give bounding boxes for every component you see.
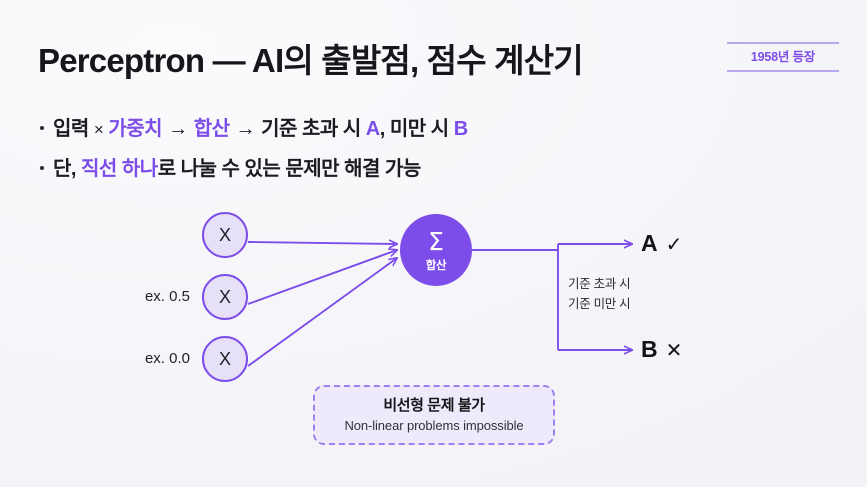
cross-icon: ✕ [666,338,683,362]
perceptron-diagram: X X X ex. 0.5 ex. 0.0 Σ 합산 기준 초과 시 기준 미만… [0,190,867,487]
page-title: Perceptron — AI의 출발점, 점수 계산기 [38,34,583,82]
input-node-2-symbol: X [219,287,231,308]
bullet-1-seg-weight: 가중치 [103,118,162,140]
input-node-3-label: ex. 0.0 [120,350,190,367]
bullet-1-seg-threshold: 기준 초과 시 [261,118,366,140]
output-b: B ✕ [641,336,682,363]
slide-canvas: Perceptron — AI의 출발점, 점수 계산기 1958년 등장 입력… [0,0,867,487]
bullet-2-text: 단, 직선 하나로 나눌 수 있는 문제만 해결 가능 [53,152,421,181]
limitation-note-title: 비선형 문제 불가 [383,397,484,414]
sum-node[interactable]: Σ 합산 [400,214,472,286]
sum-node-label: 합산 [426,257,447,273]
bullet-item-2: 단, 직선 하나로 나눌 수 있는 문제만 해결 가능 [40,152,680,181]
bullet-2-seg-rest: 로 나눌 수 있는 문제만 해결 가능 [158,158,421,180]
bullet-1-seg-sum: 합산 [194,118,230,140]
output-a-label: A [641,230,658,257]
limitation-note-box: 비선형 문제 불가 Non-linear problems impossible [313,385,555,445]
input-node-2[interactable]: X [202,274,248,320]
wire-input2-to-sum [248,250,397,304]
input-node-3-symbol: X [219,349,231,370]
limitation-note-subtitle: Non-linear problems impossible [344,418,523,433]
arrow-right-icon-2: → [230,118,262,140]
bullet-1-seg-else: , 미만 시 [380,118,454,140]
input-node-1[interactable]: X [202,212,248,258]
bullet-list: 입력 × 가중치 → 합산 → 기준 초과 시 A, 미만 시 B 단, 직선 … [40,112,680,192]
bullet-dot-icon [40,166,44,170]
bullet-2-seg-line: 직선 하나 [81,158,158,180]
check-icon: ✓ [666,232,683,256]
bullet-dot-icon [40,126,44,130]
bullet-1-text: 입력 × 가중치 → 합산 → 기준 초과 시 A, 미만 시 B [53,112,468,141]
era-badge: 1958년 등장 [727,42,839,72]
bullet-1-seg-a: A [366,118,380,140]
arrow-right-icon-1: → [162,118,194,140]
bullet-1-seg-b: B [454,118,468,140]
output-a: A ✓ [641,230,682,257]
output-b-label: B [641,336,658,363]
bullet-1-seg-input: 입력 [53,118,94,140]
input-node-1-symbol: X [219,225,231,246]
input-node-3[interactable]: X [202,336,248,382]
input-node-2-label: ex. 0.5 [120,288,190,305]
condition-below-label: 기준 미만 시 [568,293,630,312]
wire-input1-to-sum [248,242,397,244]
bullet-2-seg-but: 단, [53,158,81,180]
sigma-icon: Σ [428,229,444,254]
wire-input3-to-sum [248,258,397,366]
era-badge-label: 1958년 등장 [751,50,815,64]
bullet-item-1: 입력 × 가중치 → 합산 → 기준 초과 시 A, 미만 시 B [40,112,680,141]
multiply-icon: × [94,120,103,139]
condition-above-label: 기준 초과 시 [568,273,630,292]
